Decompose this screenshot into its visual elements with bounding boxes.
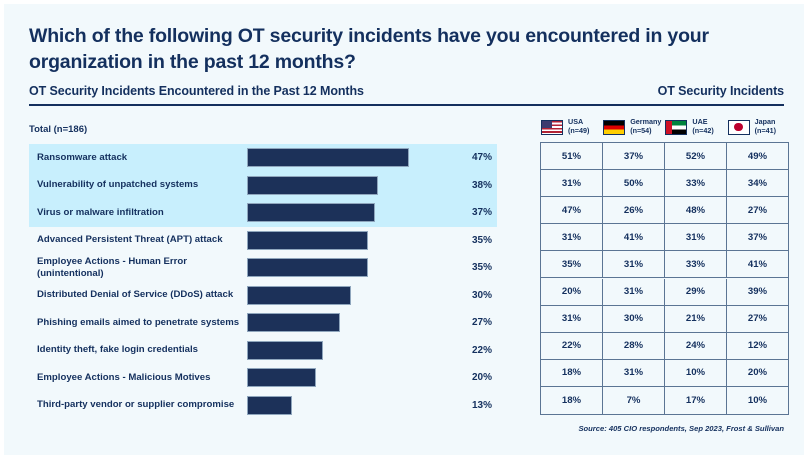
table-cell: 10%	[727, 387, 788, 414]
table-row: 35%31%33%41%	[541, 251, 788, 278]
table-row: 31%41%31%37%	[541, 224, 788, 251]
bar-category-label: Vulnerability of unpatched systems	[37, 179, 242, 191]
bar-track	[247, 313, 437, 332]
table-cell: 41%	[603, 224, 665, 250]
table-cell: 31%	[665, 224, 727, 250]
table-cell: 39%	[727, 279, 788, 305]
bar-value-label: 35%	[454, 262, 492, 273]
table-cell: 24%	[665, 333, 727, 359]
table-cell: 31%	[541, 170, 603, 196]
bar-chart-row: Employee Actions - Human Error (unintent…	[29, 254, 497, 281]
bar-category-label: Third-party vendor or supplier compromis…	[37, 399, 242, 411]
bar-track	[247, 341, 437, 360]
header-divider	[29, 104, 784, 106]
bar-value-label: 47%	[454, 152, 492, 163]
table-cell: 51%	[541, 143, 603, 169]
bar-chart-row: Phishing emails aimed to penetrate syste…	[29, 309, 497, 336]
flag-usa-icon	[541, 120, 563, 135]
bar-category-label: Identity theft, fake login credentials	[37, 344, 242, 356]
table-cell: 17%	[665, 387, 727, 414]
country-label: Germany(n=54)	[630, 118, 661, 136]
table-subtitle: OT Security Incidents	[658, 84, 784, 98]
country-label: UAE(n=42)	[692, 118, 713, 136]
table-cell: 52%	[665, 143, 727, 169]
table-cell: 21%	[665, 306, 727, 332]
bar-value-label: 22%	[454, 345, 492, 356]
table-cell: 37%	[727, 224, 788, 250]
bar-category-label: Employee Actions - Human Error (unintent…	[37, 256, 242, 279]
table-cell: 27%	[727, 306, 788, 332]
table-cell: 31%	[603, 279, 665, 305]
bar-category-label: Phishing emails aimed to penetrate syste…	[37, 317, 242, 329]
bar	[247, 286, 351, 305]
country-header-japan: Japan(n=41)	[728, 114, 790, 140]
bar-chart-row: Identity theft, fake login credentials22…	[29, 337, 497, 364]
bar-chart-row: Vulnerability of unpatched systems38%	[29, 172, 497, 199]
table-cell: 50%	[603, 170, 665, 196]
bar-chart-row: Ransomware attack47%	[29, 144, 497, 171]
table-row: 20%31%29%39%	[541, 279, 788, 306]
chart-subtitle: OT Security Incidents Encountered in the…	[29, 84, 364, 98]
bar	[247, 176, 378, 195]
table-cell: 7%	[603, 387, 665, 414]
country-sample-size: (n=42)	[692, 127, 713, 136]
bar	[247, 258, 368, 277]
bar	[247, 368, 316, 387]
table-cell: 33%	[665, 170, 727, 196]
table-cell: 22%	[541, 333, 603, 359]
country-label: Japan(n=41)	[755, 118, 776, 136]
table-cell: 12%	[727, 333, 788, 359]
bar	[247, 341, 323, 360]
table-cell: 31%	[541, 224, 603, 250]
bar	[247, 396, 292, 415]
page-title: Which of the following OT security incid…	[29, 24, 729, 75]
table-row: 51%37%52%49%	[541, 143, 788, 170]
table-cell: 30%	[603, 306, 665, 332]
country-header-uae: UAE(n=42)	[665, 114, 727, 140]
bar-track	[247, 368, 437, 387]
table-cell: 37%	[603, 143, 665, 169]
flag-uae-icon	[665, 120, 687, 135]
table-row: 31%30%21%27%	[541, 306, 788, 333]
table-cell: 41%	[727, 251, 788, 277]
table-cell: 47%	[541, 197, 603, 223]
bar-track	[247, 176, 437, 195]
bar-value-label: 20%	[454, 372, 492, 383]
table-cell: 26%	[603, 197, 665, 223]
bar-track	[247, 231, 437, 250]
total-respondents-label: Total (n=186)	[29, 124, 87, 135]
bar	[247, 148, 409, 167]
bar-category-label: Virus or malware infiltration	[37, 207, 242, 219]
bar	[247, 203, 375, 222]
country-header-germany: Germany(n=54)	[603, 114, 665, 140]
table-cell: 10%	[665, 360, 727, 386]
table-row: 31%50%33%34%	[541, 170, 788, 197]
flag-japan-icon	[728, 120, 750, 135]
bar-value-label: 35%	[454, 235, 492, 246]
table-cell: 20%	[541, 279, 603, 305]
table-cell: 48%	[665, 197, 727, 223]
table-cell: 35%	[541, 251, 603, 277]
bar-value-label: 27%	[454, 317, 492, 328]
table-cell: 27%	[727, 197, 788, 223]
table-cell: 34%	[727, 170, 788, 196]
bar-track	[247, 258, 437, 277]
table-row: 22%28%24%12%	[541, 333, 788, 360]
bar-category-label: Employee Actions - Malicious Motives	[37, 372, 242, 384]
country-breakdown-table: 51%37%52%49%31%50%33%34%47%26%48%27%31%4…	[540, 142, 789, 415]
country-flag-header: USA(n=49)Germany(n=54)UAE(n=42)Japan(n=4…	[541, 114, 789, 140]
table-cell: 49%	[727, 143, 788, 169]
bar-value-label: 30%	[454, 290, 492, 301]
table-row: 47%26%48%27%	[541, 197, 788, 224]
country-sample-size: (n=54)	[630, 127, 661, 136]
table-cell: 31%	[603, 251, 665, 277]
bar-chart-row: Virus or malware infiltration37%	[29, 199, 497, 226]
bar-category-label: Ransomware attack	[37, 152, 242, 164]
bar-track	[247, 396, 437, 415]
table-row: 18%31%10%20%	[541, 360, 788, 387]
table-cell: 29%	[665, 279, 727, 305]
table-cell: 31%	[541, 306, 603, 332]
country-header-usa: USA(n=49)	[541, 114, 603, 140]
bar-track	[247, 148, 437, 167]
table-cell: 28%	[603, 333, 665, 359]
bar-chart-row: Third-party vendor or supplier compromis…	[29, 392, 497, 419]
bar-value-label: 38%	[454, 180, 492, 191]
table-cell: 31%	[603, 360, 665, 386]
bar-category-label: Distributed Denial of Service (DDoS) att…	[37, 289, 242, 301]
bar-value-label: 37%	[454, 207, 492, 218]
country-sample-size: (n=41)	[755, 127, 776, 136]
horizontal-bar-chart: Ransomware attack47%Vulnerability of unp…	[29, 144, 497, 419]
table-cell: 20%	[727, 360, 788, 386]
table-cell: 18%	[541, 360, 603, 386]
bar-track	[247, 286, 437, 305]
bar-chart-row: Advanced Persistent Threat (APT) attack3…	[29, 227, 497, 254]
slide-canvas: Which of the following OT security incid…	[4, 4, 804, 455]
bar-track	[247, 203, 437, 222]
bar-chart-row: Distributed Denial of Service (DDoS) att…	[29, 282, 497, 309]
bar-chart-row: Employee Actions - Malicious Motives20%	[29, 364, 497, 391]
bar-category-label: Advanced Persistent Threat (APT) attack	[37, 234, 242, 246]
bar	[247, 313, 340, 332]
country-sample-size: (n=49)	[568, 127, 589, 136]
country-label: USA(n=49)	[568, 118, 589, 136]
source-note: Source: 405 CIO respondents, Sep 2023, F…	[578, 424, 784, 433]
table-row: 18%7%17%10%	[541, 387, 788, 414]
flag-germany-icon	[603, 120, 625, 135]
table-cell: 18%	[541, 387, 603, 414]
bar	[247, 231, 368, 250]
table-cell: 33%	[665, 251, 727, 277]
bar-value-label: 13%	[454, 400, 492, 411]
